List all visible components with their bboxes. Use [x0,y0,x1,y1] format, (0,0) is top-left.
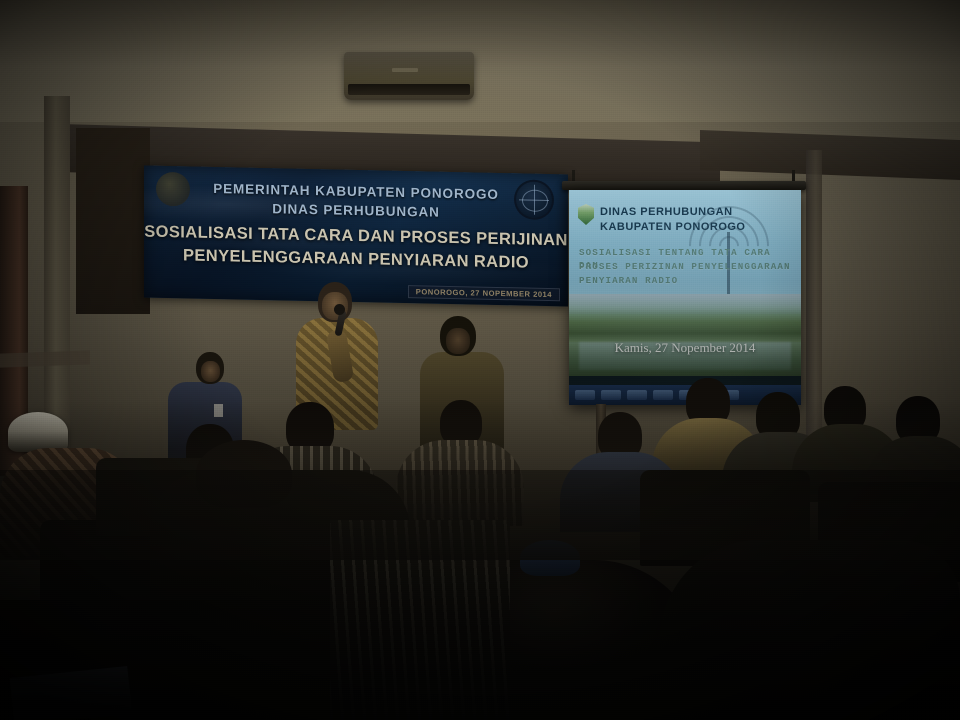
ac-brand-badge [392,68,418,72]
seated-officer-face [201,361,220,382]
taskbar-item [575,390,595,400]
projector-screen-roller [562,181,806,190]
taskbar-item [601,390,621,400]
slide-subtitle-line2: PROSES PERIZINAN PENYELENGGARAAN [579,260,793,273]
slide-heading-line1: DINAS PERHUBUNGAN [600,206,733,218]
slide-date-text: Kamis, 27 Nopember 2014 [569,340,801,356]
split-air-conditioner [344,52,474,100]
event-banner: PEMERINTAH KABUPATEN PONOROGO DINAS PERH… [144,166,568,307]
wall-alcove [76,128,150,314]
foreground-shadow [0,470,960,720]
slide-heading-line2: KABUPATEN PONOROGO [600,221,746,233]
taskbar-item [653,390,673,400]
ac-vent-louver [348,84,470,95]
photograph-seminar-room: PEMERINTAH KABUPATEN PONOROGO DINAS PERH… [0,0,960,720]
microphone-head [334,304,345,315]
taskbar-item [627,390,647,400]
projection-screen: DINAS PERHUBUNGAN KABUPATEN PONOROGO SOS… [569,190,801,405]
slide-subtitle-line3: PENYIARAN RADIO [579,274,793,287]
standing-attendee-face [446,328,470,354]
